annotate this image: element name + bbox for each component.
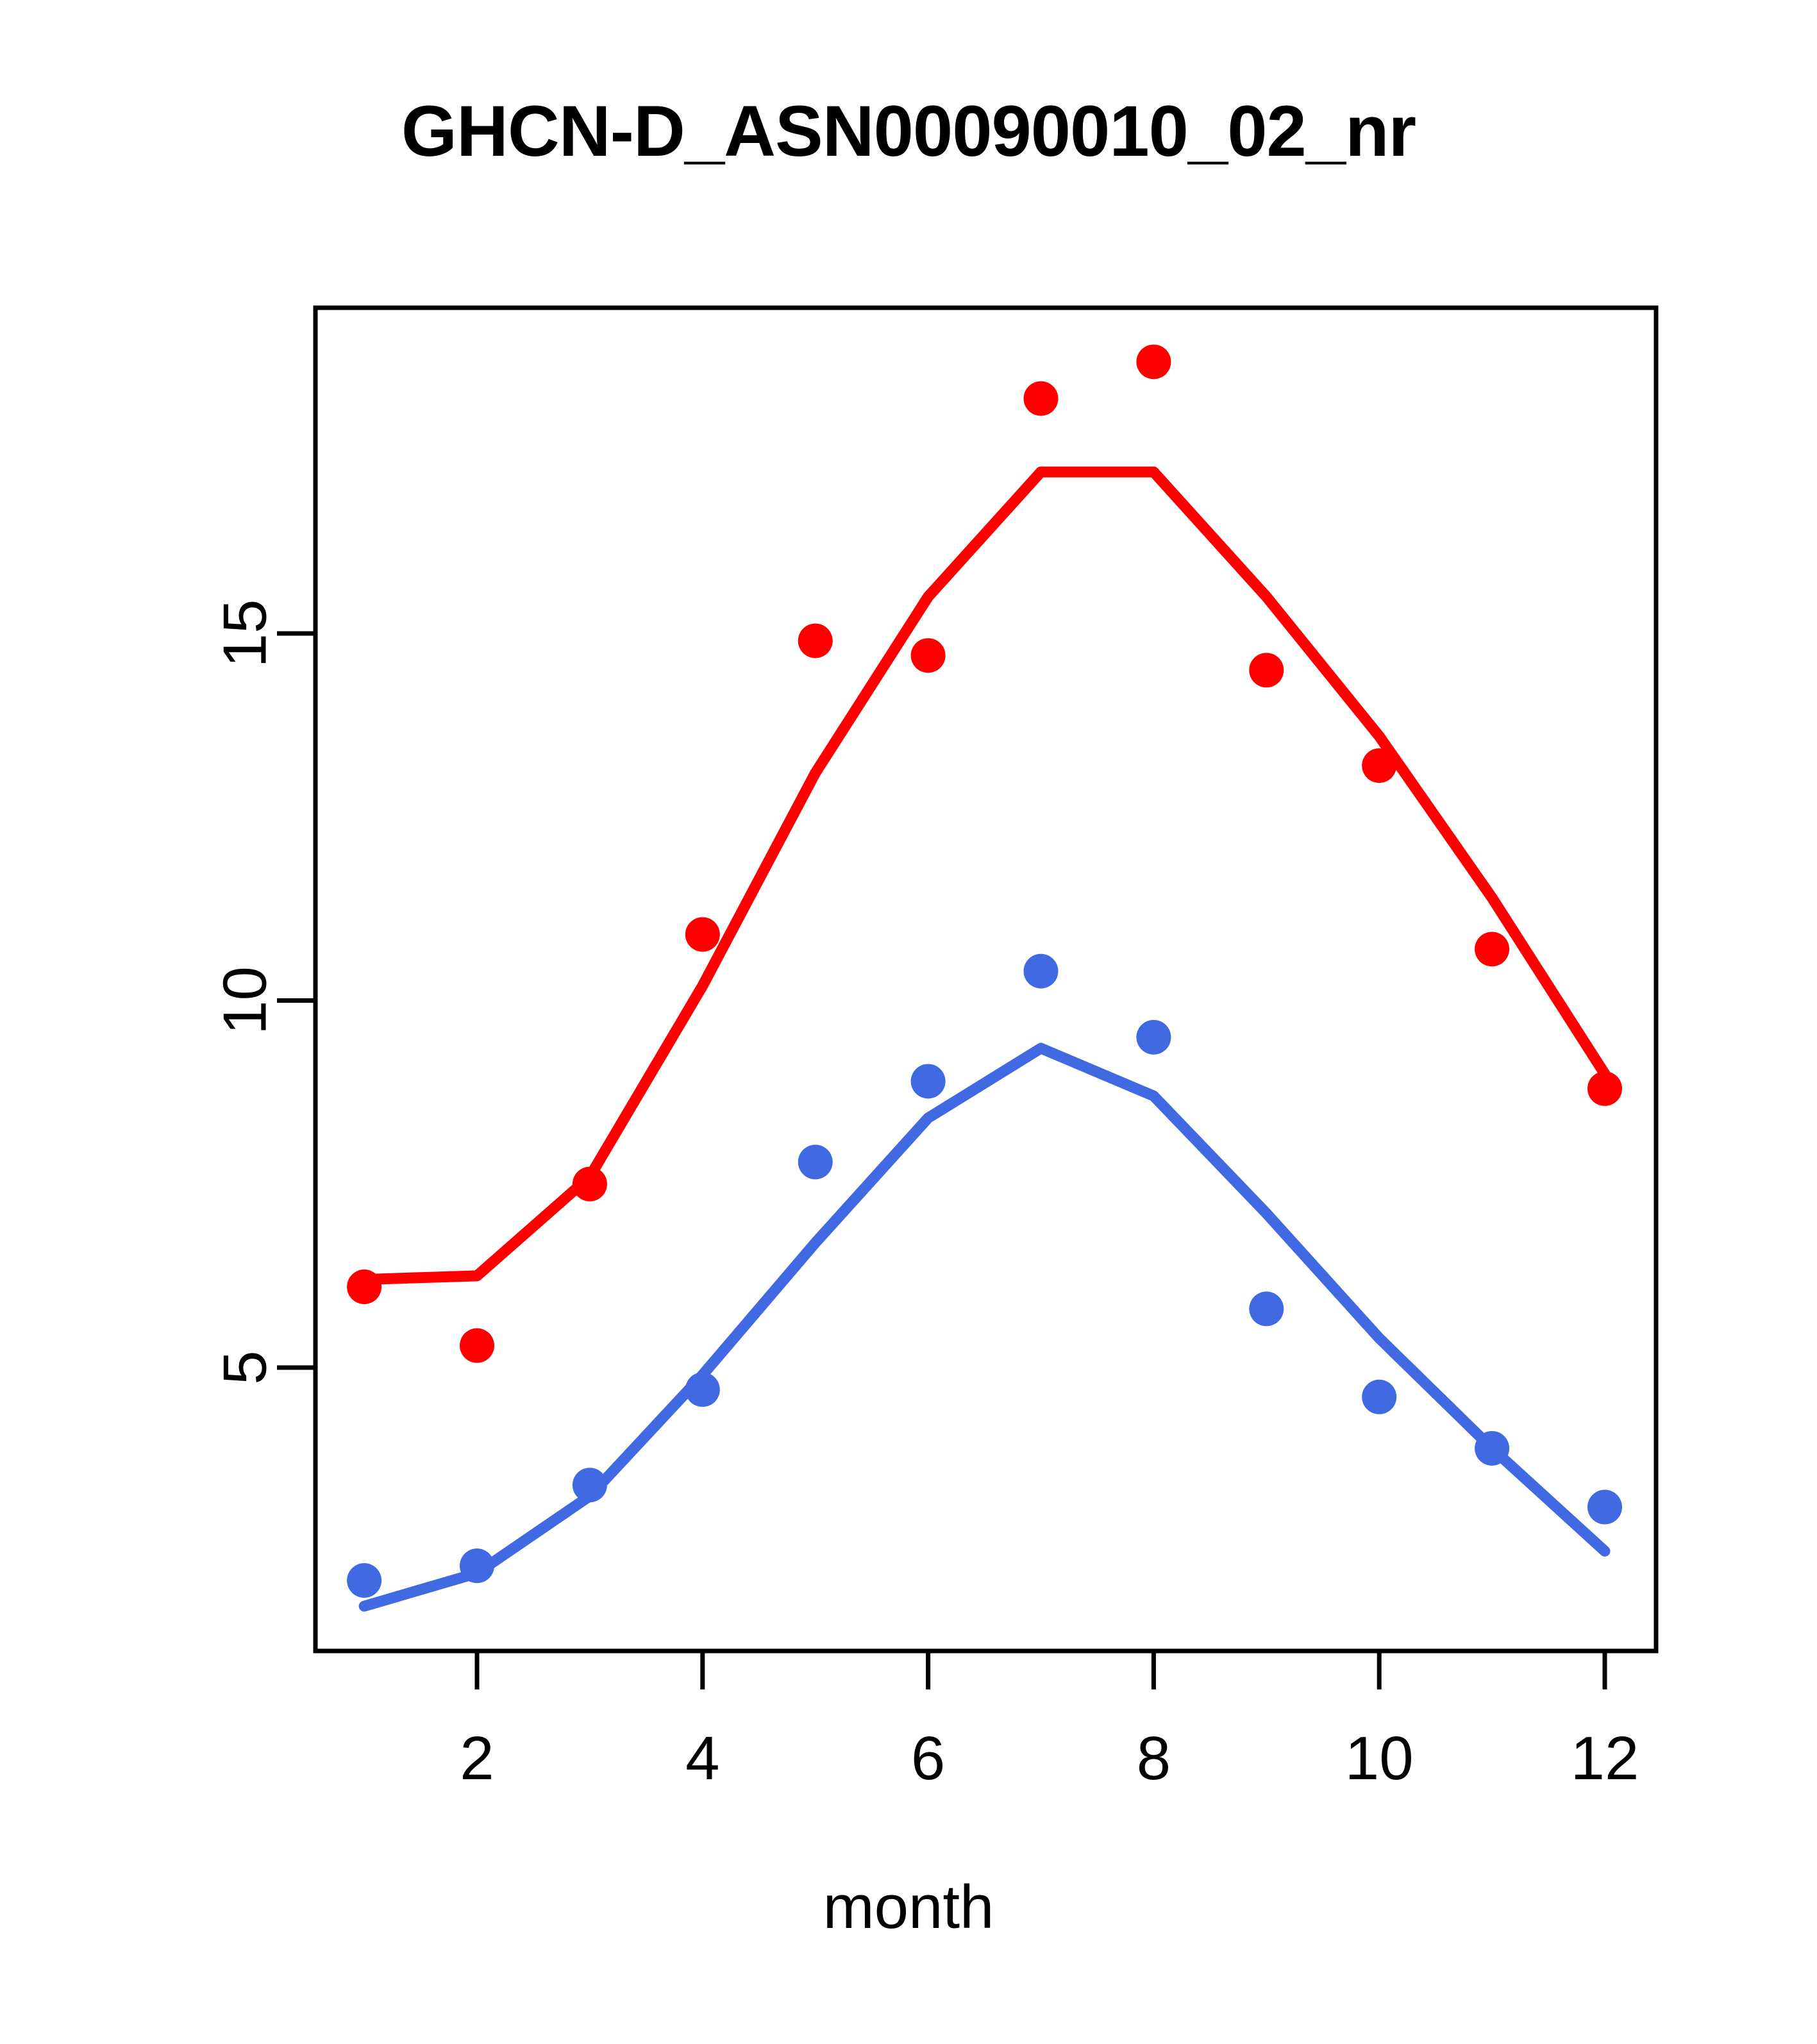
y-axis-tick-label: 10: [211, 966, 280, 1035]
data-point: [1136, 344, 1171, 379]
x-axis-tick-label: 2: [460, 1724, 494, 1793]
chart-page: GHCN-D_ASN00090010_02_nr 2468101251015 m…: [0, 0, 1817, 2044]
series-line-blue-line: [364, 1048, 1605, 1606]
series-line-red-line: [364, 472, 1605, 1280]
y-axis-tick-label: 5: [211, 1350, 280, 1384]
x-axis-tick-label: 8: [1137, 1724, 1171, 1793]
data-point: [911, 1064, 946, 1098]
data-point: [460, 1328, 494, 1363]
x-axis-tick-label: 6: [911, 1724, 945, 1793]
data-point: [685, 917, 720, 951]
plot-area: 2468101251015: [0, 0, 1817, 2044]
data-point: [798, 1144, 833, 1179]
series-points-blue-points: [347, 954, 1622, 1598]
data-point: [347, 1563, 381, 1598]
data-point: [1362, 1380, 1396, 1414]
data-point: [1475, 932, 1509, 966]
data-point: [911, 638, 946, 673]
data-point: [1249, 1291, 1284, 1326]
data-point: [798, 623, 833, 658]
x-axis-title: month: [0, 1872, 1817, 1943]
data-point: [1024, 954, 1059, 989]
data-point: [1587, 1490, 1622, 1525]
x-axis-tick-label: 10: [1345, 1724, 1414, 1793]
data-point: [1024, 381, 1059, 416]
x-axis-tick-label: 4: [685, 1724, 719, 1793]
data-point: [1249, 653, 1284, 687]
plot-box: [315, 308, 1656, 1651]
x-axis-tick-label: 12: [1571, 1724, 1639, 1793]
series-points-red-points: [347, 344, 1622, 1362]
data-point: [1136, 1020, 1171, 1055]
y-axis-tick-label: 15: [211, 599, 280, 668]
